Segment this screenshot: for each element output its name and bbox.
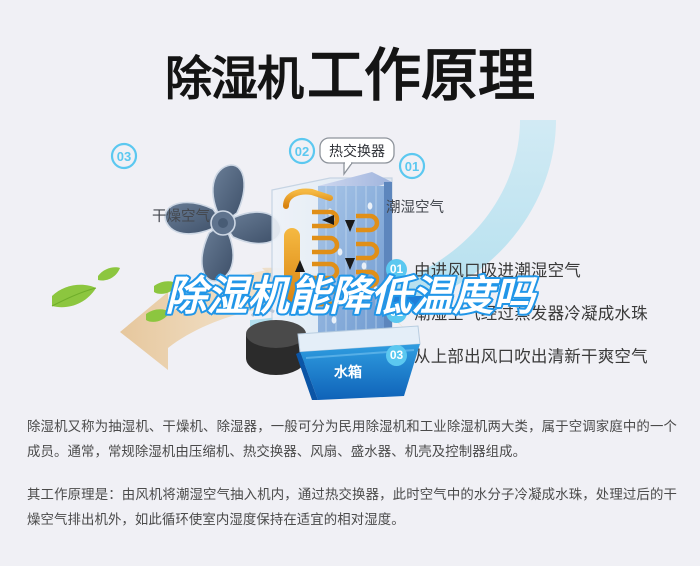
leaf-icon <box>52 267 178 322</box>
step-badge: 02 <box>386 302 407 323</box>
dry-air-label-group: 03 干燥空气 <box>112 144 210 225</box>
page-title-part2: 工作原理 <box>307 44 535 108</box>
humid-air-label: 潮湿空气 <box>386 199 444 216</box>
heat-exchanger-badge: 02 <box>295 144 309 159</box>
infographic-page: 除湿机工作原理 <box>0 0 700 566</box>
humid-air-badge: 01 <box>405 159 419 174</box>
step-badge: 01 <box>386 259 407 280</box>
dry-air-badge: 03 <box>117 149 131 164</box>
step-text: 由进风口吸进潮湿空气 <box>414 257 581 281</box>
list-item: 02 潮湿空气经过蒸发器冷凝成水珠 <box>386 295 686 329</box>
heat-exchanger-label-group: 02 热交换器 <box>290 138 394 174</box>
page-title: 除湿机工作原理 <box>0 30 700 112</box>
step-badge: 03 <box>386 345 407 366</box>
list-item: 03 从上部出风口吹出清新干爽空气 <box>386 338 686 372</box>
body-paragraph-2: 其工作原理是：由风机将潮湿空气抽入机内，通过热交换器，此时空气中的水分子冷凝成水… <box>27 482 677 532</box>
water-tank-label: 水箱 <box>334 364 362 380</box>
step-text: 潮湿空气经过蒸发器冷凝成水珠 <box>414 300 648 324</box>
heat-exchanger-label: 热交换器 <box>329 143 385 159</box>
page-title-part1: 除湿机 <box>165 52 303 105</box>
list-item: 01 由进风口吸进潮湿空气 <box>386 252 686 286</box>
step-text: 从上部出风口吹出清新干爽空气 <box>414 343 648 367</box>
body-copy: 除湿机又称为抽湿机、干燥机、除湿器，一般可分为民用除湿机和工业除湿机两大类，属于… <box>27 414 677 532</box>
body-paragraph-1: 除湿机又称为抽湿机、干燥机、除湿器，一般可分为民用除湿机和工业除湿机两大类，属于… <box>27 414 677 464</box>
dry-air-label: 干燥空气 <box>152 208 210 225</box>
step-list: 01 由进风口吸进潮湿空气 02 潮湿空气经过蒸发器冷凝成水珠 03 从上部出风… <box>386 252 686 381</box>
humid-air-label-group: 01 潮湿空气 <box>386 154 444 216</box>
